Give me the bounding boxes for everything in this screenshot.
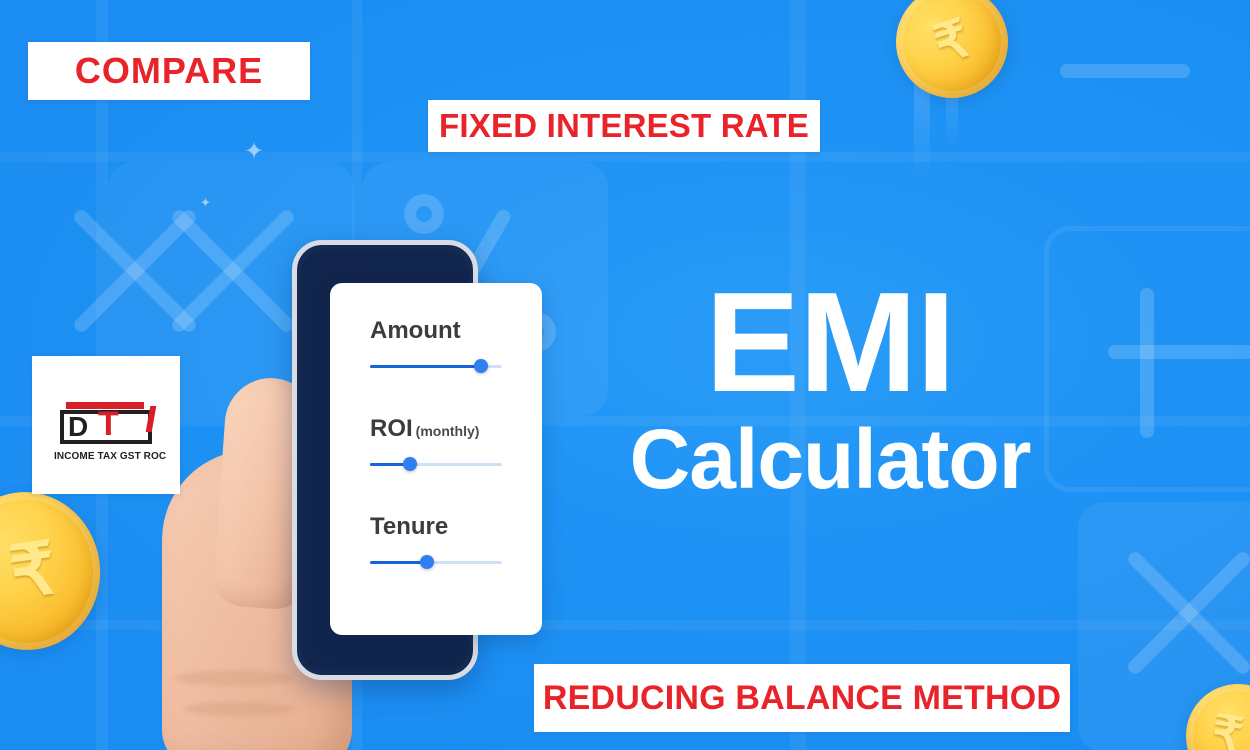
page-title: EMI — [600, 276, 1060, 411]
background-band-horizontal-1 — [0, 152, 1250, 162]
field-roi-sub-label: (monthly) — [416, 423, 480, 439]
key-plus-stroke-v — [1108, 345, 1250, 359]
field-amount-label: Amount — [370, 319, 502, 343]
rupee-icon-bottom-right: ₹ — [1207, 704, 1247, 750]
emi-calculator-thumbnail: ✦ ✦ ₹ ₹ ₹ Amount — [0, 0, 1250, 750]
slider-amount-thumb[interactable] — [474, 359, 488, 373]
key-plus-stroke-h — [1140, 288, 1154, 438]
field-amount-label-text: Amount — [370, 317, 461, 344]
rupee-icon-top-right: ₹ — [927, 8, 977, 75]
slider-amount-fill — [370, 365, 481, 368]
logo-letter-d: D — [68, 413, 87, 441]
page-subtitle: Calculator — [600, 417, 1060, 501]
logo-caption: INCOME TAX GST ROC — [54, 451, 158, 462]
logo-mark-icon: D T — [54, 402, 158, 444]
badge-fixed-interest-rate: FIXED INTEREST RATE — [428, 100, 820, 152]
key-minus — [1060, 64, 1190, 78]
sparkle-icon-1: ✦ — [244, 140, 264, 164]
sparkle-icon-2: ✦ — [200, 196, 211, 209]
badge-reducing-balance-method: REDUCING BALANCE METHOD — [534, 664, 1070, 732]
brand-logo-card: D T INCOME TAX GST ROC — [32, 356, 180, 494]
title-block: EMI Calculator — [600, 276, 1060, 501]
slider-tenure-fill — [370, 561, 427, 564]
slider-tenure-thumb[interactable] — [420, 555, 434, 569]
slider-tenure[interactable] — [370, 555, 502, 569]
slider-amount[interactable] — [370, 359, 502, 373]
field-amount: Amount — [330, 319, 542, 373]
field-tenure-label: Tenure — [370, 515, 502, 539]
knuckle-2 — [184, 702, 294, 716]
emi-calculator-card: Amount ROI(monthly) Tenure — [330, 283, 542, 635]
slider-roi[interactable] — [370, 457, 502, 471]
field-roi-label-text: ROI — [370, 415, 413, 442]
knuckle-1 — [174, 670, 294, 686]
key-percent-dot-top — [404, 194, 444, 234]
rupee-icon-bottom-left: ₹ — [4, 525, 61, 615]
badge-compare: COMPARE — [28, 42, 310, 100]
field-tenure-label-text: Tenure — [370, 513, 448, 540]
brand-logo: D T INCOME TAX GST ROC — [54, 402, 158, 462]
field-roi-label: ROI(monthly) — [370, 417, 502, 441]
logo-letter-t: T — [98, 407, 119, 441]
slider-roi-thumb[interactable] — [403, 457, 417, 471]
field-tenure: Tenure — [330, 515, 542, 569]
field-roi: ROI(monthly) — [330, 417, 542, 471]
